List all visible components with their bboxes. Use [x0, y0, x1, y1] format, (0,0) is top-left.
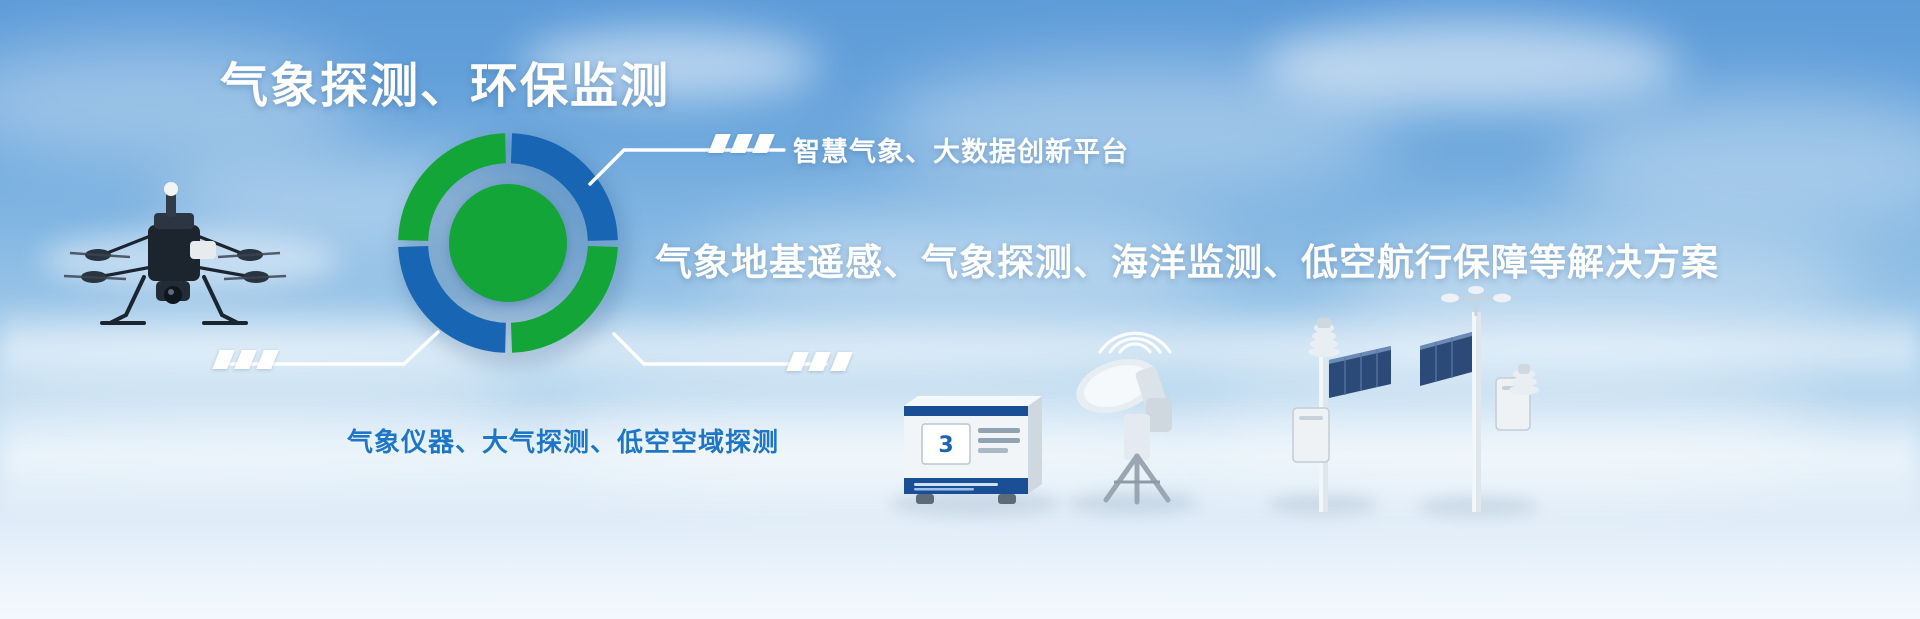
signal-waves-icon [1090, 300, 1180, 360]
solar-weather-station-left [1255, 312, 1395, 512]
hero-banner: 气象探测、环保监测 智慧气象、大数据创新平台 [0, 0, 1920, 619]
page-title: 气象探测、环保监测 [220, 46, 670, 116]
solar-weather-station-right [1400, 282, 1570, 512]
callout-label-top: 智慧气象、大数据创新平台 [793, 130, 1129, 169]
segmented-donut-graphic [393, 128, 623, 358]
accent-dashes-top [712, 134, 771, 153]
svg-text:3: 3 [938, 433, 953, 458]
cloud-decoration [1260, 20, 1680, 110]
donut-center-circle [449, 184, 567, 302]
callout-label-main: 气象地基遥感、气象探测、海洋监测、低空航行保障等解决方案 [655, 232, 1719, 286]
satellite-dish-tripod [1062, 352, 1212, 512]
cloud-decoration [880, 60, 1400, 190]
callout-label-bottom: 气象仪器、大气探测、低空空域探测 [347, 422, 779, 459]
drone-uav [40, 155, 300, 355]
mobile-lidar-cabinet: 3 [892, 388, 1052, 508]
cloud-decoration [1560, 90, 1920, 230]
accent-dashes-bottom [216, 350, 275, 369]
accent-dashes-main [790, 352, 849, 371]
